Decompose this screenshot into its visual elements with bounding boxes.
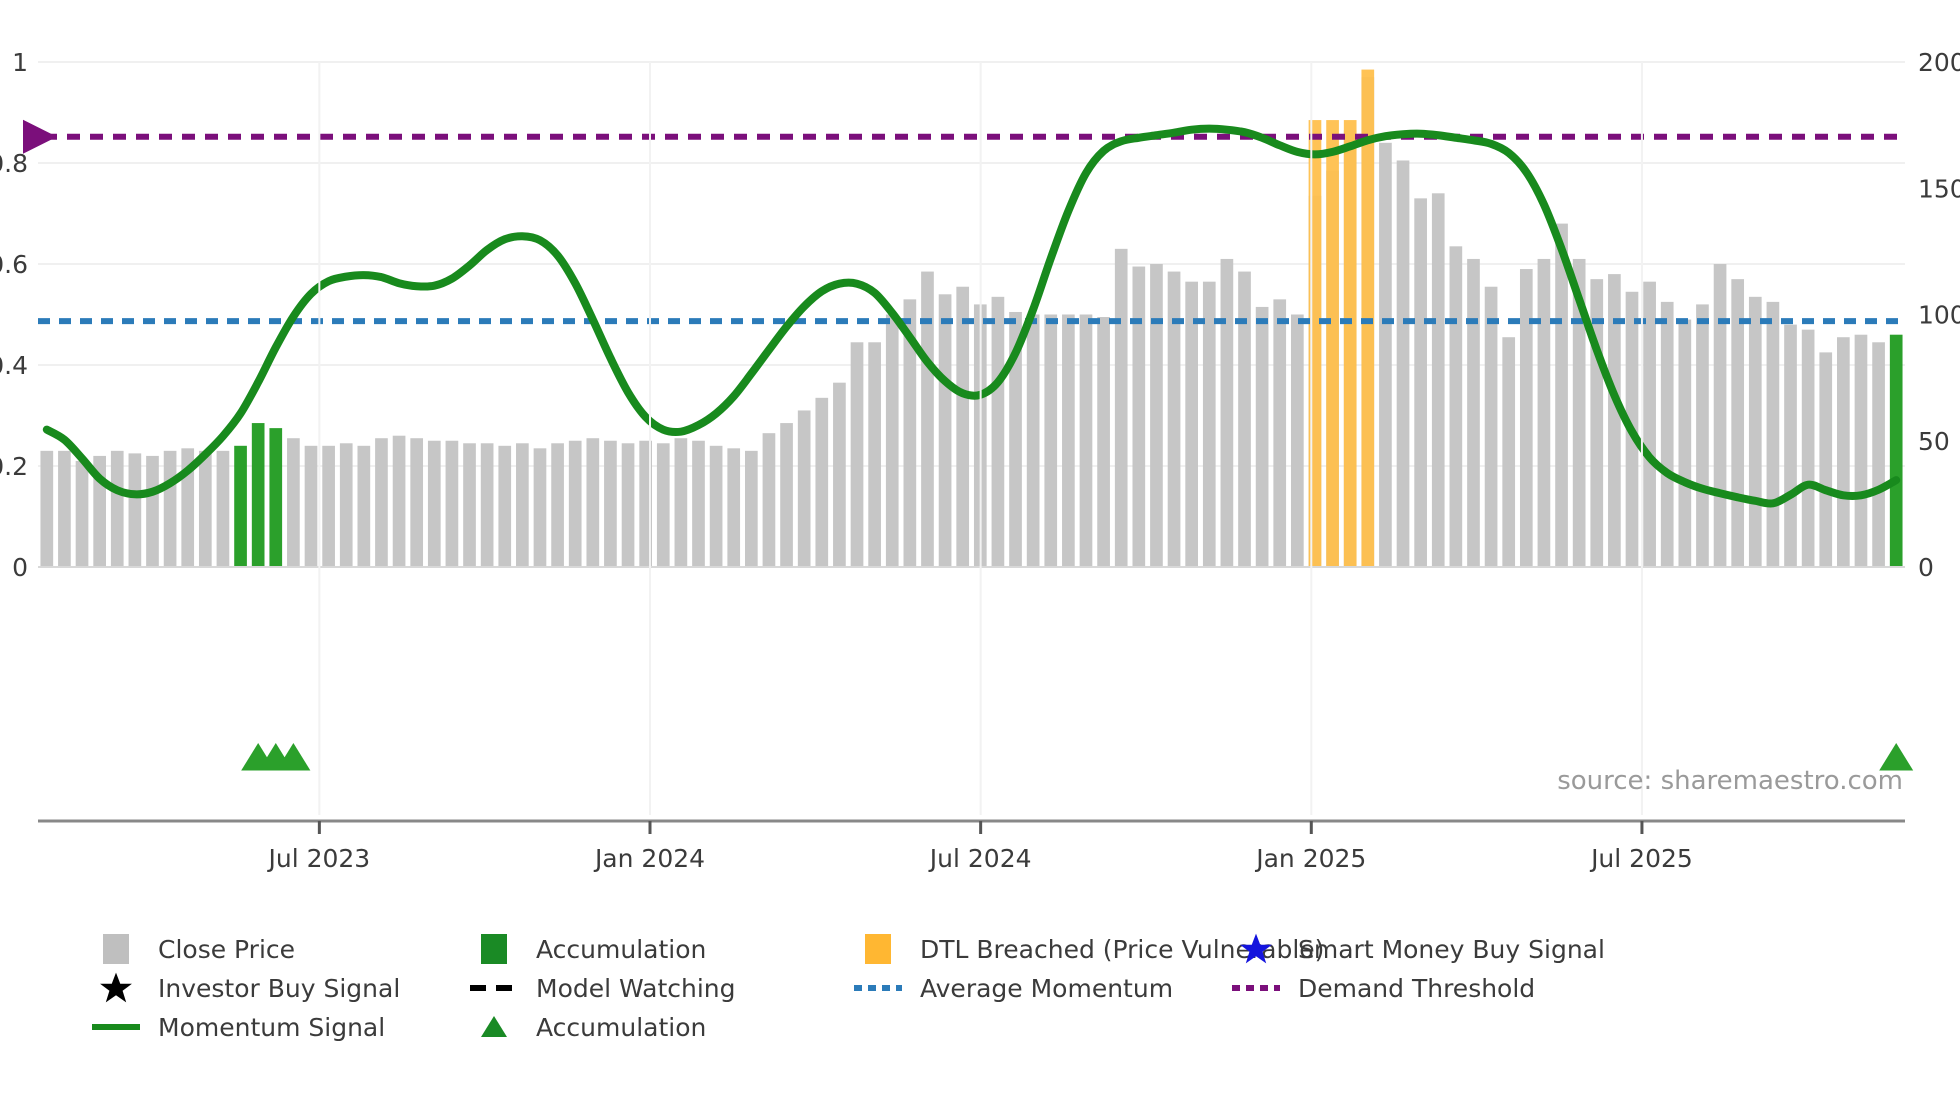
close-price-bar — [710, 446, 723, 567]
close-price-bar — [886, 315, 899, 568]
close-price-bar — [1802, 330, 1815, 567]
close-price-bar — [322, 446, 335, 567]
close-price-bar — [1062, 315, 1075, 568]
close-price-bar — [199, 451, 212, 567]
close-price-bar — [675, 438, 688, 567]
close-price-bar — [58, 451, 71, 567]
legend-item[interactable]: Average Momentum — [850, 969, 1173, 1007]
close-price-bar — [428, 441, 441, 567]
legend-row-2: Investor Buy SignalModel WatchingAverage… — [0, 969, 1960, 1007]
close-price-bar — [745, 451, 758, 567]
right-axis-tick-label: 100 — [1918, 301, 1960, 330]
legend-swatch — [88, 969, 144, 1007]
close-price-bar — [1238, 272, 1251, 567]
legend-swatch — [1228, 930, 1284, 968]
legend-square-icon — [865, 934, 891, 964]
close-price-bar — [833, 383, 846, 567]
legend-label: Demand Threshold — [1298, 974, 1535, 1003]
left-axis-tick-label: 0.6 — [0, 250, 28, 279]
close-price-bar — [1784, 325, 1797, 567]
accumulation-bar — [252, 423, 265, 567]
close-price-bar — [534, 448, 547, 567]
close-price-bar — [657, 443, 670, 567]
close-price-bar — [569, 441, 582, 567]
close-price-bar — [1414, 198, 1427, 567]
legend-item[interactable]: Accumulation — [466, 930, 706, 968]
close-price-bar — [1097, 317, 1110, 567]
legend-triangle-icon — [479, 1013, 509, 1041]
close-price-bar — [692, 441, 705, 567]
close-price-bar — [1749, 297, 1762, 567]
legend-item[interactable]: Model Watching — [466, 969, 736, 1007]
x-axis-tick-label: Jul 2025 — [1589, 844, 1693, 873]
close-price-bar — [1027, 315, 1040, 568]
close-price-bar — [1643, 282, 1656, 567]
close-price-bar — [498, 446, 511, 567]
close-price-bar — [868, 342, 881, 567]
close-price-bar — [727, 448, 740, 567]
left-axis-tick-label: 0.2 — [0, 452, 28, 481]
close-price-bar — [939, 294, 952, 567]
close-price-bar — [393, 436, 406, 567]
close-price-bar — [1485, 287, 1498, 567]
close-price-bar — [516, 443, 529, 567]
legend-square-icon — [481, 934, 507, 964]
close-price-bar — [1150, 264, 1163, 567]
legend-row-3: Momentum SignalAccumulation — [0, 1008, 1960, 1046]
close-price-bar — [1696, 304, 1709, 567]
close-price-bar — [763, 433, 776, 567]
left-axis-tick-label: 1 — [12, 48, 28, 77]
x-axis-tick-label: Jan 2025 — [1254, 844, 1366, 873]
legend-swatch — [1228, 969, 1284, 1007]
close-price-bar — [1291, 315, 1304, 568]
close-price-bar — [217, 451, 230, 567]
right-axis-tick-label: 150 — [1918, 174, 1960, 203]
dtl-breached-bar — [1344, 120, 1357, 567]
x-axis-tick-label: Jan 2024 — [593, 844, 705, 873]
close-price-bar — [111, 451, 124, 567]
legend-swatch — [850, 930, 906, 968]
legend-item[interactable]: Smart Money Buy Signal — [1228, 930, 1605, 968]
x-axis-tick-label: Jul 2024 — [928, 844, 1032, 873]
close-price-bar — [1115, 249, 1128, 567]
legend-dotted-line-icon — [854, 985, 902, 991]
close-price-bar — [1767, 302, 1780, 567]
close-price-bar — [1080, 315, 1093, 568]
legend-label: Model Watching — [536, 974, 736, 1003]
legend-item[interactable]: Demand Threshold — [1228, 969, 1535, 1007]
legend-row-1: Close PriceAccumulationDTL Breached (Pri… — [0, 930, 1960, 968]
close-price-bar — [1855, 335, 1868, 567]
close-price-bar — [1608, 274, 1621, 567]
legend-swatch — [88, 1008, 144, 1046]
close-price-bar — [551, 443, 564, 567]
legend-swatch — [466, 1008, 522, 1046]
legend-star-icon — [99, 971, 133, 1005]
legend-label: Accumulation — [536, 935, 706, 964]
legend-label: Smart Money Buy Signal — [1298, 935, 1605, 964]
close-price-bar — [1256, 307, 1269, 567]
legend-item[interactable]: Momentum Signal — [88, 1008, 385, 1046]
accumulation-bar — [234, 446, 247, 567]
source-attribution: source: sharemaestro.com — [1557, 766, 1903, 796]
close-price-bar — [1714, 264, 1727, 567]
close-price-bar — [780, 423, 793, 567]
close-price-bar — [358, 446, 371, 567]
close-price-bar — [1273, 299, 1286, 567]
close-price-bar — [1185, 282, 1198, 567]
legend-square-icon — [103, 934, 129, 964]
close-price-bar — [1819, 352, 1832, 567]
stock-momentum-chart: Jul 2023Jan 2024Jul 2024Jan 2025Jul 2025… — [0, 0, 1960, 1102]
close-price-bar — [1397, 160, 1410, 567]
close-price-bar — [604, 441, 617, 567]
legend-label: Momentum Signal — [158, 1013, 385, 1042]
legend-swatch — [466, 969, 522, 1007]
close-price-bar — [1132, 267, 1145, 567]
right-axis-tick-label: 50 — [1918, 427, 1950, 456]
close-price-bar — [798, 410, 811, 567]
close-price-bar — [410, 438, 423, 567]
legend-swatch — [466, 930, 522, 968]
right-axis-tick-label: 0 — [1918, 553, 1934, 582]
legend-dashed-line-icon — [470, 985, 518, 991]
accumulation-bar — [269, 428, 282, 567]
left-axis-tick-label: 0 — [12, 553, 28, 582]
close-price-bar — [921, 272, 934, 567]
close-price-bar — [1872, 342, 1885, 567]
legend-label: Accumulation — [536, 1013, 706, 1042]
close-price-bar — [1837, 337, 1850, 567]
close-price-bar — [1221, 259, 1234, 567]
legend-label: Average Momentum — [920, 974, 1173, 1003]
legend-swatch — [88, 930, 144, 968]
close-price-bar — [1467, 259, 1480, 567]
close-price-bar — [305, 446, 318, 567]
legend-label: Investor Buy Signal — [158, 974, 400, 1003]
legend-item[interactable]: Accumulation — [466, 1008, 706, 1046]
close-price-bar — [340, 443, 353, 567]
close-price-bar — [446, 441, 459, 567]
legend-item[interactable]: Close Price — [88, 930, 295, 968]
close-price-bar — [992, 297, 1005, 567]
close-price-bar — [1555, 224, 1568, 567]
close-price-bar — [76, 461, 89, 567]
close-price-bar — [956, 287, 969, 567]
close-price-bar — [586, 438, 599, 567]
left-axis-tick-label: 0.8 — [0, 149, 28, 178]
close-price-bar — [1520, 269, 1533, 567]
accumulation-bar — [1890, 335, 1903, 567]
close-price-bar — [287, 438, 300, 567]
close-price-bar — [463, 443, 476, 567]
close-price-bar — [164, 451, 177, 567]
close-price-bar — [851, 342, 864, 567]
legend-dotted-line-icon — [1232, 985, 1280, 991]
close-price-bar — [40, 451, 53, 567]
close-price-bar — [1432, 193, 1445, 567]
close-price-bar — [1450, 246, 1463, 567]
legend-line-icon — [92, 1024, 140, 1030]
close-price-bar — [1379, 143, 1392, 567]
legend-star-icon — [1239, 932, 1273, 966]
right-axis-tick-label: 200 — [1918, 48, 1960, 77]
close-price-bar — [1044, 315, 1057, 568]
x-axis-tick-label: Jul 2023 — [266, 844, 370, 873]
dtl-breached-bar — [1326, 120, 1339, 567]
demand-threshold-marker — [23, 120, 57, 154]
close-price-bar — [815, 398, 828, 567]
close-price-bar — [129, 453, 142, 567]
close-price-bar — [1661, 302, 1674, 567]
close-price-bar — [1538, 259, 1551, 567]
close-price-bar — [146, 456, 159, 567]
close-price-bar — [1502, 337, 1515, 567]
legend-swatch — [850, 969, 906, 1007]
close-price-bar — [1678, 320, 1691, 567]
legend-label: Close Price — [158, 935, 295, 964]
legend-item[interactable]: Investor Buy Signal — [88, 969, 400, 1007]
close-price-bar — [1203, 282, 1216, 567]
close-price-bar — [375, 438, 388, 567]
close-price-bar — [1168, 272, 1181, 567]
close-price-bar — [481, 443, 494, 567]
left-axis-tick-label: 0.4 — [0, 351, 28, 380]
close-price-bar — [622, 443, 635, 567]
